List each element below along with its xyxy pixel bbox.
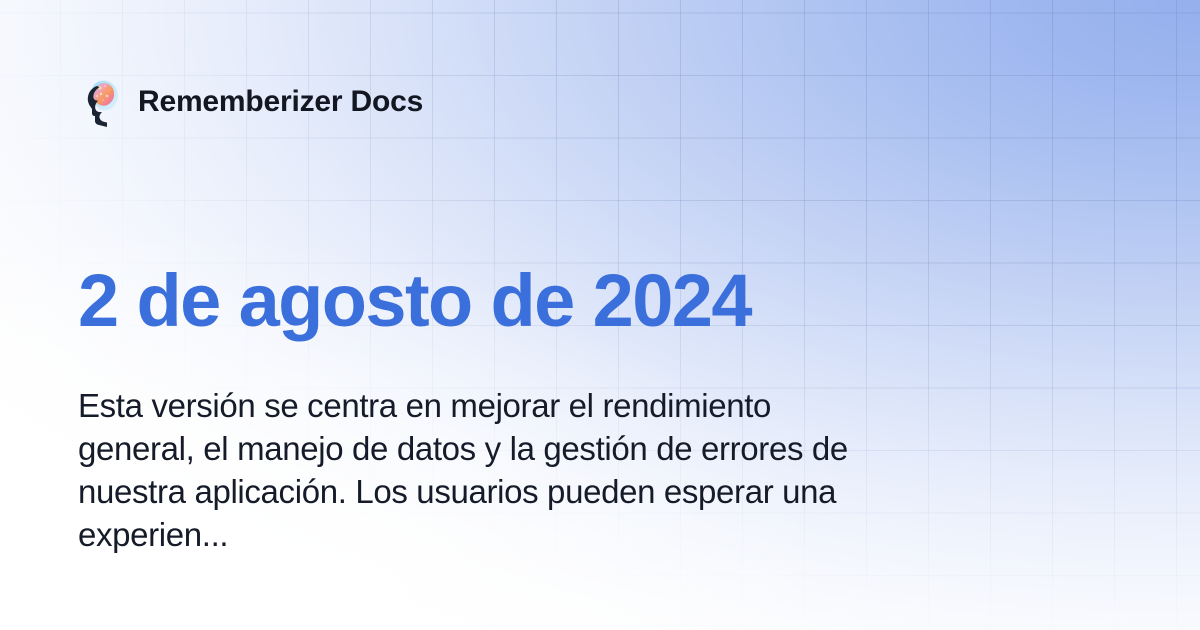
card-content: Rememberizer Docs 2 de agosto de 2024 Es… bbox=[0, 0, 1200, 630]
page-title: 2 de agosto de 2024 bbox=[78, 262, 751, 340]
brain-head-silhouette-icon bbox=[78, 77, 122, 127]
page-summary: Esta versión se centra en mejorar el ren… bbox=[78, 385, 888, 557]
og-preview-card: Rememberizer Docs 2 de agosto de 2024 Es… bbox=[0, 0, 1200, 630]
brand-header: Rememberizer Docs bbox=[78, 76, 423, 128]
brand-title: Rememberizer Docs bbox=[138, 87, 423, 117]
